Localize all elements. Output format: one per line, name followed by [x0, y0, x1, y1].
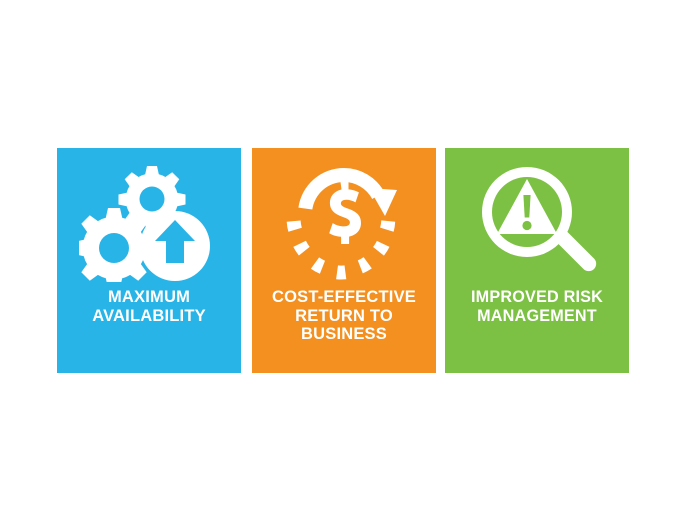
- benefit-card-maximum-availability[interactable]: MAXIMUM AVAILABILITY: [57, 148, 241, 373]
- benefit-title-maximum-availability: MAXIMUM AVAILABILITY: [57, 288, 241, 325]
- infographic-three-benefits: MAXIMUM AVAILABILITY: [0, 0, 692, 514]
- benefit-card-cost-effective-return-to-business[interactable]: COST-EFFECTIVE RETURN TO BUSINESS: [252, 148, 436, 373]
- title-line: IMPROVED RISK: [445, 288, 629, 307]
- magnifier-warning-icon: [445, 148, 629, 288]
- benefit-title-improved-risk-management: IMPROVED RISK MANAGEMENT: [445, 288, 629, 325]
- benefit-card-improved-risk-management[interactable]: IMPROVED RISK MANAGEMENT: [445, 148, 629, 373]
- title-line: AVAILABILITY: [57, 307, 241, 326]
- title-line: COST-EFFECTIVE: [252, 288, 436, 307]
- title-line: RETURN TO: [252, 307, 436, 326]
- gears-up-arrow-icon: [57, 148, 241, 288]
- title-line: MANAGEMENT: [445, 307, 629, 326]
- dollar-circular-arrow-icon: [252, 148, 436, 288]
- benefit-title-cost-effective-return-to-business: COST-EFFECTIVE RETURN TO BUSINESS: [252, 288, 436, 344]
- title-line: BUSINESS: [252, 325, 436, 344]
- title-line: MAXIMUM: [57, 288, 241, 307]
